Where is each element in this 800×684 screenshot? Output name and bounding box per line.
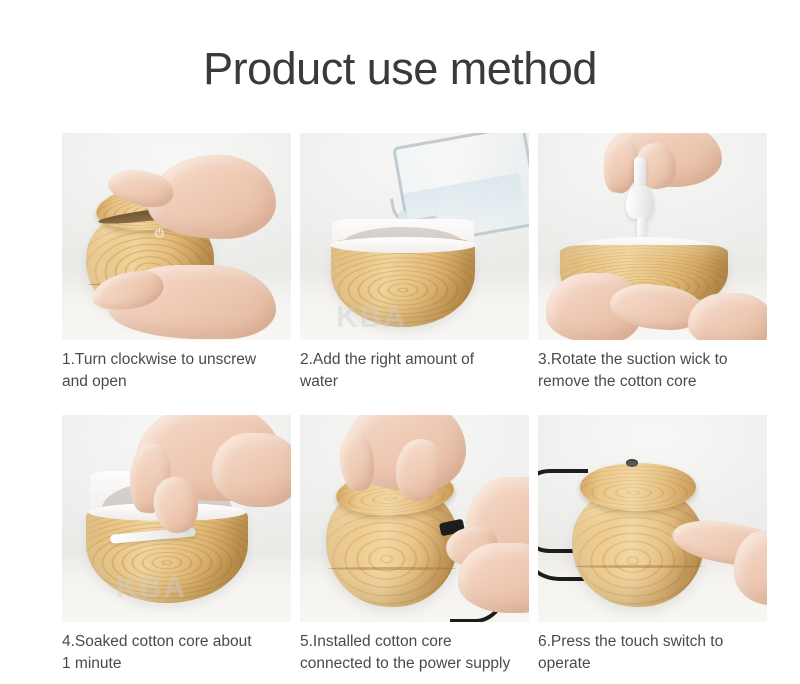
hand-back (212, 433, 291, 507)
diffuser-lid (580, 463, 696, 511)
step-caption-3: 3.Rotate the suction wick to remove the … (538, 349, 767, 393)
page-title: Product use method (0, 46, 800, 91)
mist-outlet-hole (626, 459, 638, 467)
step-caption-2: 2.Add the right amount of water (300, 349, 529, 393)
photo-step-3-remove-wick (538, 133, 767, 340)
photo-step-2-add-water: KBA (300, 133, 529, 340)
step-caption-4: 4.Soaked cotton core about 1 minute (62, 631, 291, 675)
diffuser-seam (574, 565, 702, 568)
hand-lower-right (688, 293, 767, 340)
photo-step-5-install-connect-power (300, 415, 529, 622)
photo-step-1-unscrew-open: ⏻ (62, 133, 291, 340)
liner-rim (330, 237, 476, 253)
step-cell-5: 5.Installed cotton core connected to the… (300, 415, 529, 675)
step-cell-2: KBA 2.Add the right amount of water (300, 133, 529, 393)
steps-grid: ⏻ 1.Turn clockwise to unscrew and open (62, 133, 738, 675)
step-cell-4: KBA 4.Soaked cotton core about 1 minute (62, 415, 291, 675)
step-cell-1: ⏻ 1.Turn clockwise to unscrew and open (62, 133, 291, 393)
step-cell-3: 3.Rotate the suction wick to remove the … (538, 133, 767, 393)
photo-step-6-press-touch-switch (538, 415, 767, 622)
step-caption-1: 1.Turn clockwise to unscrew and open (62, 349, 291, 393)
photo-step-4-soak-cotton-core: KBA (62, 415, 291, 622)
step-cell-6: 6.Press the touch switch to operate (538, 415, 767, 675)
suction-wick-cone (626, 185, 654, 219)
diffuser-seam (328, 567, 456, 570)
power-icon: ⏻ (155, 229, 164, 240)
step-caption-6: 6.Press the touch switch to operate (538, 631, 767, 675)
step-caption-5: 5.Installed cotton core connected to the… (300, 631, 529, 675)
